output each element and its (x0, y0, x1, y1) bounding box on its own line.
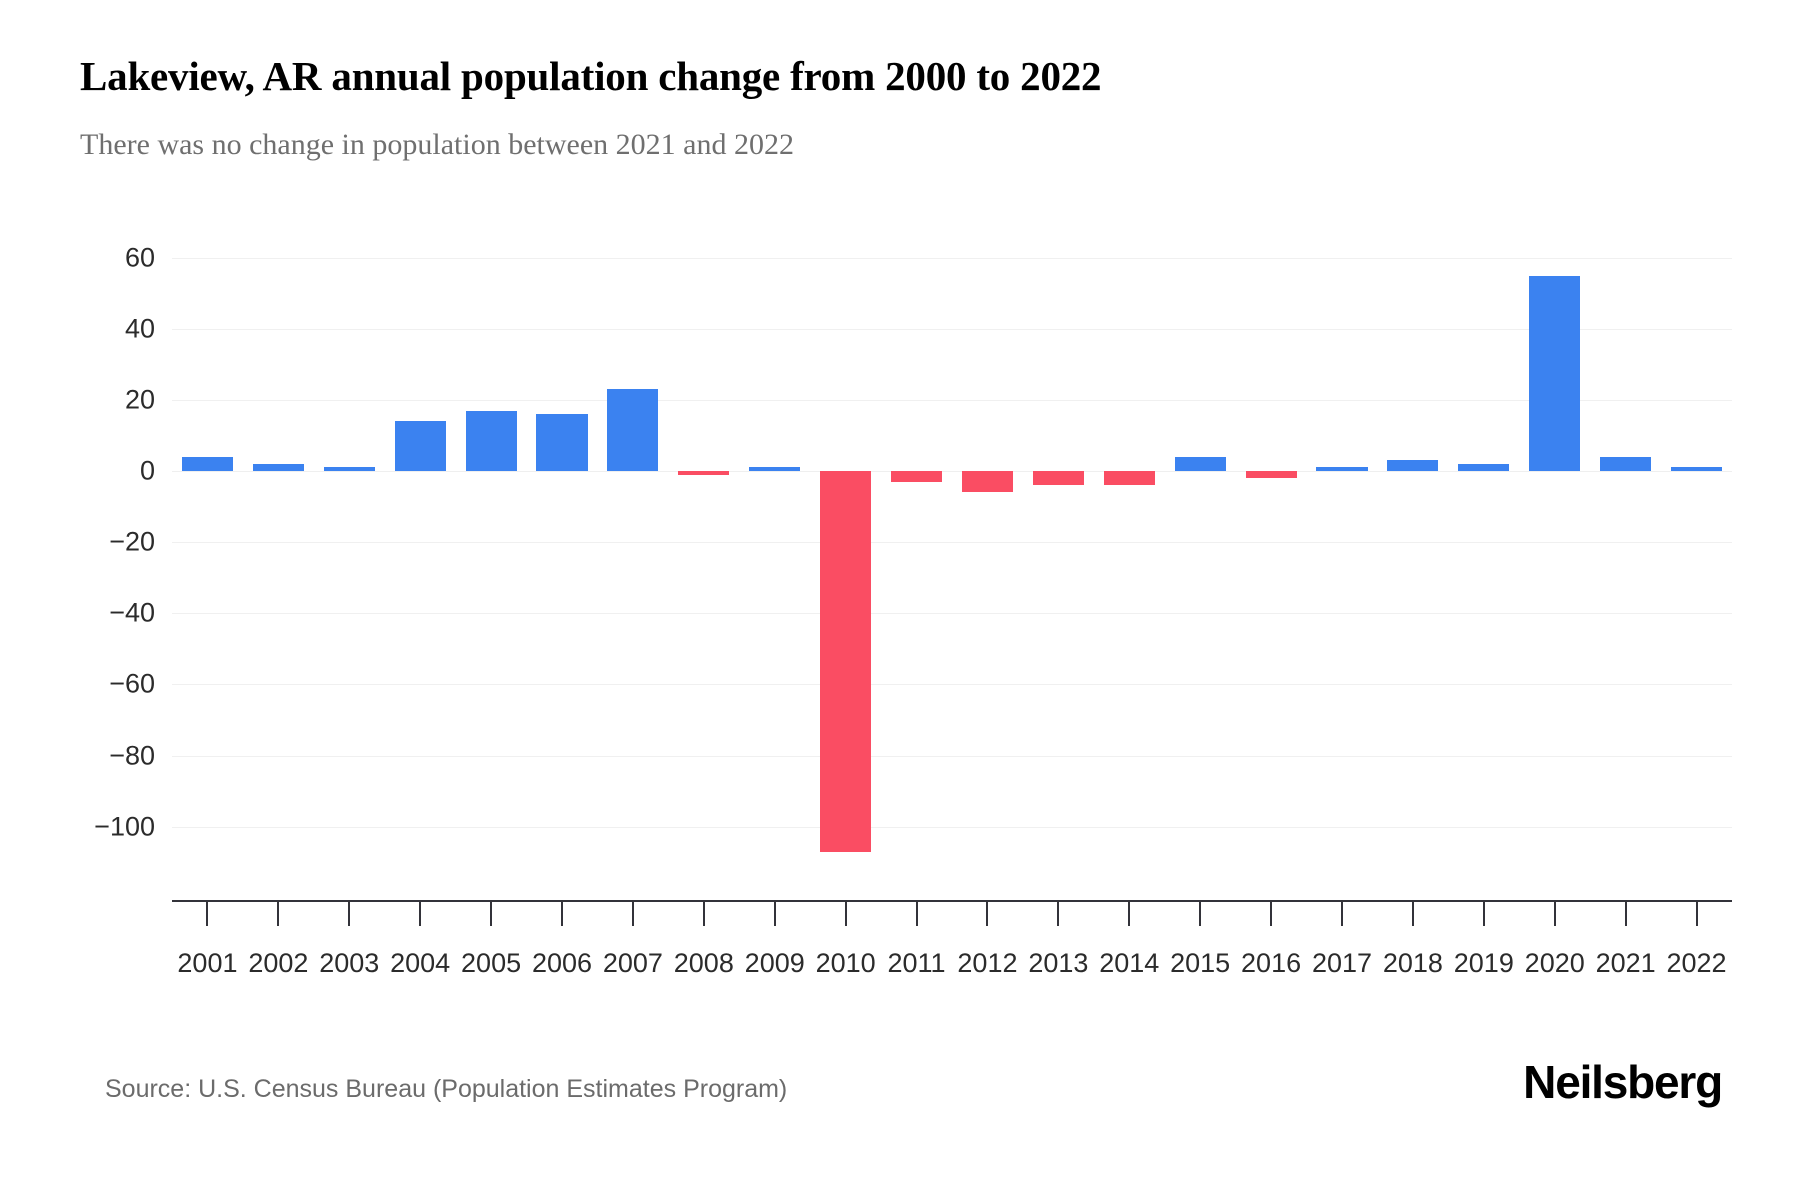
x-axis-tick-label-2021: 2021 (1596, 948, 1656, 979)
x-axis-tick-label-2016: 2016 (1241, 948, 1301, 979)
y-gridline (172, 756, 1732, 757)
x-axis-tick-label-2008: 2008 (674, 948, 734, 979)
bar-2016[interactable] (1246, 471, 1297, 478)
x-axis-tick-mark (348, 900, 350, 926)
x-axis-tick-mark (986, 900, 988, 926)
x-axis-tick-mark (277, 900, 279, 926)
bar-2001[interactable] (182, 457, 233, 471)
x-axis-tick-mark (1554, 900, 1556, 926)
x-axis-tick-mark (1128, 900, 1130, 926)
x-axis-tick-mark (1057, 900, 1059, 926)
x-axis-tick-label-2013: 2013 (1028, 948, 1088, 979)
x-axis-tick-mark (206, 900, 208, 926)
bar-2006[interactable] (536, 414, 587, 471)
bar-2011[interactable] (891, 471, 942, 482)
bar-2004[interactable] (395, 421, 446, 471)
y-axis-tick-label: 20 (25, 385, 155, 416)
bar-2009[interactable] (749, 467, 800, 471)
x-axis-tick-mark (632, 900, 634, 926)
brand-logo: Neilsberg (1523, 1055, 1722, 1109)
y-axis-tick-label: 60 (25, 242, 155, 273)
y-gridline (172, 471, 1732, 472)
source-note: Source: U.S. Census Bureau (Population E… (105, 1075, 787, 1104)
bar-2005[interactable] (466, 411, 517, 471)
x-axis-tick-label-2022: 2022 (1666, 948, 1726, 979)
x-axis-tick-label-2018: 2018 (1383, 948, 1443, 979)
bar-2018[interactable] (1387, 460, 1438, 471)
bar-2008[interactable] (678, 471, 729, 475)
y-gridline (172, 684, 1732, 685)
x-axis-tick-label-2017: 2017 (1312, 948, 1372, 979)
chart-page: Lakeview, AR annual population change fr… (0, 0, 1800, 1200)
x-axis-tick-mark (561, 900, 563, 926)
x-axis-tick-label-2010: 2010 (816, 948, 876, 979)
x-axis-tick-label-2011: 2011 (888, 948, 946, 979)
bar-2019[interactable] (1458, 464, 1509, 471)
x-axis-tick-mark (1341, 900, 1343, 926)
y-axis-tick-label: −80 (25, 740, 155, 771)
bar-2010[interactable] (820, 471, 871, 851)
bar-2012[interactable] (962, 471, 1013, 492)
bar-2013[interactable] (1033, 471, 1084, 485)
x-axis-line (172, 900, 1732, 902)
x-axis-tick-mark (1483, 900, 1485, 926)
x-axis-tick-label-2020: 2020 (1525, 948, 1585, 979)
x-axis-tick-mark (845, 900, 847, 926)
x-axis-tick-label-2019: 2019 (1454, 948, 1514, 979)
y-gridline (172, 329, 1732, 330)
x-axis-tick-mark (774, 900, 776, 926)
bar-2022[interactable] (1671, 467, 1722, 471)
bar-2003[interactable] (324, 467, 375, 471)
y-gridline (172, 400, 1732, 401)
x-axis-tick-label-2005: 2005 (461, 948, 521, 979)
x-axis-tick-label-2012: 2012 (957, 948, 1017, 979)
y-axis-tick-label: 40 (25, 313, 155, 344)
x-axis-tick-mark (703, 900, 705, 926)
bar-chart-plot: 6040200−20−40−60−80−10020012002200320042… (0, 0, 1800, 1200)
x-axis-tick-mark (916, 900, 918, 926)
y-axis-tick-label: 0 (25, 456, 155, 487)
x-axis-tick-mark (1270, 900, 1272, 926)
y-gridline (172, 258, 1732, 259)
x-axis-tick-mark (1696, 900, 1698, 926)
x-axis-tick-label-2001: 2001 (177, 948, 237, 979)
x-axis-tick-label-2014: 2014 (1099, 948, 1159, 979)
bar-2007[interactable] (607, 389, 658, 471)
x-axis-tick-mark (490, 900, 492, 926)
x-axis-tick-label-2002: 2002 (248, 948, 308, 979)
y-axis-tick-label: −40 (25, 598, 155, 629)
x-axis-tick-label-2003: 2003 (319, 948, 379, 979)
y-axis-tick-label: −60 (25, 669, 155, 700)
y-gridline (172, 613, 1732, 614)
x-axis-tick-mark (419, 900, 421, 926)
x-axis-tick-mark (1412, 900, 1414, 926)
y-gridline (172, 827, 1732, 828)
bar-2017[interactable] (1316, 467, 1367, 471)
y-gridline (172, 542, 1732, 543)
x-axis-tick-mark (1625, 900, 1627, 926)
bar-2021[interactable] (1600, 457, 1651, 471)
y-axis-tick-label: −100 (25, 811, 155, 842)
bar-2002[interactable] (253, 464, 304, 471)
x-axis-tick-label-2015: 2015 (1170, 948, 1230, 979)
bar-2020[interactable] (1529, 276, 1580, 472)
x-axis-tick-label-2004: 2004 (390, 948, 450, 979)
x-axis-tick-mark (1199, 900, 1201, 926)
y-axis-tick-label: −20 (25, 527, 155, 558)
x-axis-tick-label-2006: 2006 (532, 948, 592, 979)
bar-2014[interactable] (1104, 471, 1155, 485)
bar-2015[interactable] (1175, 457, 1226, 471)
x-axis-tick-label-2007: 2007 (603, 948, 663, 979)
x-axis-tick-label-2009: 2009 (745, 948, 805, 979)
